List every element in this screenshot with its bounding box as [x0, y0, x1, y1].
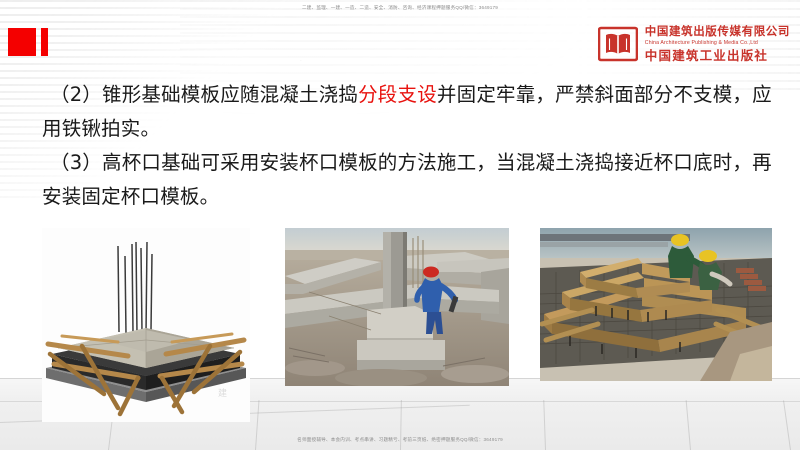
corner-accent-bar	[41, 28, 48, 56]
figure-stepped-foundation-formwork-photo	[540, 228, 772, 381]
publisher-logo-text: 中国建筑出版传媒有限公司 China Architecture Publishi…	[645, 26, 790, 63]
header-watermark-text: 二建、监理、一建、一造、二造、安全、消防、咨询、经济课程押题服务QQ/微信：36…	[302, 4, 498, 12]
corner-accent-square	[8, 28, 36, 56]
publisher-company-name-en: China Architecture Publishing & Media Co…	[645, 40, 790, 47]
header-band: 二建、监理、一建、一造、二造、安全、消防、咨询、经济课程押题服务QQ/微信：36…	[0, 0, 800, 18]
paragraph-3-text: （3）高杯口基础可采用安装杯口模板的方法施工，当混凝土浇捣接近杯口底时，再安装固…	[42, 151, 772, 208]
paragraph-2-part-1: （2）锥形基础模板应随混凝土浇捣	[50, 83, 358, 106]
figure-column-foundation-site-photo	[285, 228, 509, 386]
publisher-press-name-cn: 中国建筑工业出版社	[645, 48, 790, 63]
paragraph-2: （2）锥形基础模板应随混凝土浇捣分段支设并固定牢靠，严禁斜面部分不支模，应用铁锹…	[42, 78, 772, 146]
slide-body-text: （2）锥形基础模板应随混凝土浇捣分段支设并固定牢靠，严禁斜面部分不支模，应用铁锹…	[42, 78, 772, 214]
slide-canvas: 二建、监理、一建、一造、二造、安全、消防、咨询、经济课程押题服务QQ/微信：36…	[0, 0, 800, 450]
open-book-icon	[598, 24, 638, 64]
publisher-company-name-cn: 中国建筑出版传媒有限公司	[645, 26, 790, 39]
figure-conical-foundation-formwork-render: 建	[42, 228, 250, 422]
paragraph-2-highlight: 分段支设	[358, 83, 437, 106]
svg-text:建: 建	[218, 387, 227, 399]
publisher-logo: 中国建筑出版传媒有限公司 China Architecture Publishi…	[598, 24, 790, 64]
paragraph-3: （3）高杯口基础可采用安装杯口模板的方法施工，当混凝土浇捣接近杯口底时，再安装固…	[42, 146, 772, 214]
footer-watermark-text: 名师面授辅导、本会内训、考点串讲、习题精亏、考前三页纸、绝密押题服务QQ/微信：…	[297, 436, 503, 444]
corner-accent-mark	[8, 28, 48, 56]
